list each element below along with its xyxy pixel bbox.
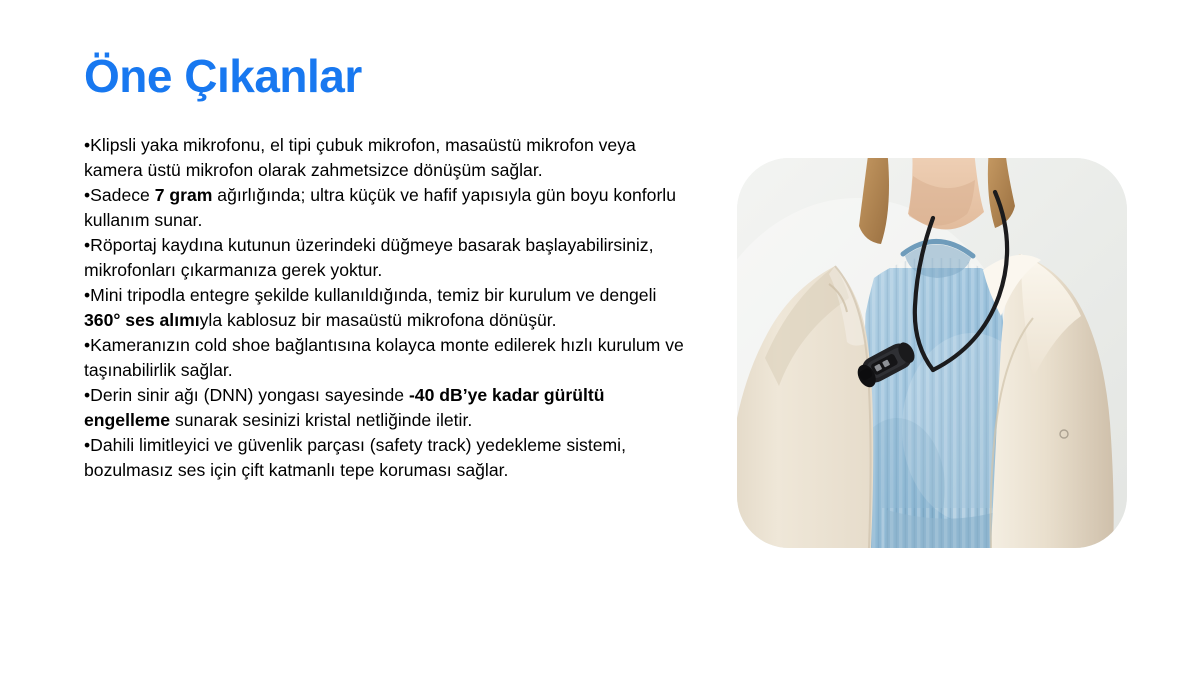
body-text: •Dahili limitleyici ve güvenlik parçası … [84,435,626,480]
body-text: •Mini tripodla entegre şekilde kullanıld… [84,285,656,305]
emphasis-text: 7 gram [155,185,213,205]
bullet-cold-shoe: •Kameranızın cold shoe bağlantısına kola… [84,333,684,383]
bullet-tripod-360: •Mini tripodla entegre şekilde kullanıld… [84,283,684,333]
body-text: sunarak sesinizi kristal netliğinde ilet… [170,410,472,430]
body-text: •Kameranızın cold shoe bağlantısına kola… [84,335,684,380]
bullet-weight: •Sadece 7 gram ağırlığında; ultra küçük … [84,183,684,233]
body-text: yla kablosuz bir masaüstü mikrofona dönü… [200,310,557,330]
emphasis-text: 360° ses alımı [84,310,200,330]
body-text: •Röportaj kaydına kutunun üzerindeki düğ… [84,235,653,280]
body-text: •Sadece [84,185,155,205]
body-text: •Klipsli yaka mikrofonu, el tipi çubuk m… [84,135,636,180]
product-lifestyle-photo [737,158,1127,548]
feature-bullet-list: •Klipsli yaka mikrofonu, el tipi çubuk m… [84,133,684,483]
page-title: Öne Çıkanlar [84,52,362,100]
bullet-one-touch-record: •Röportaj kaydına kutunun üzerindeki düğ… [84,233,684,283]
bullet-safety-track: •Dahili limitleyici ve güvenlik parçası … [84,433,684,483]
photo-illustration [737,158,1127,548]
slide-root: Öne Çıkanlar •Klipsli yaka mikrofonu, el… [0,0,1200,675]
bullet-dnn-noise: •Derin sinir ağı (DNN) yongası sayesinde… [84,383,684,433]
bullet-conversion: •Klipsli yaka mikrofonu, el tipi çubuk m… [84,133,684,183]
body-text: •Derin sinir ağı (DNN) yongası sayesinde [84,385,409,405]
